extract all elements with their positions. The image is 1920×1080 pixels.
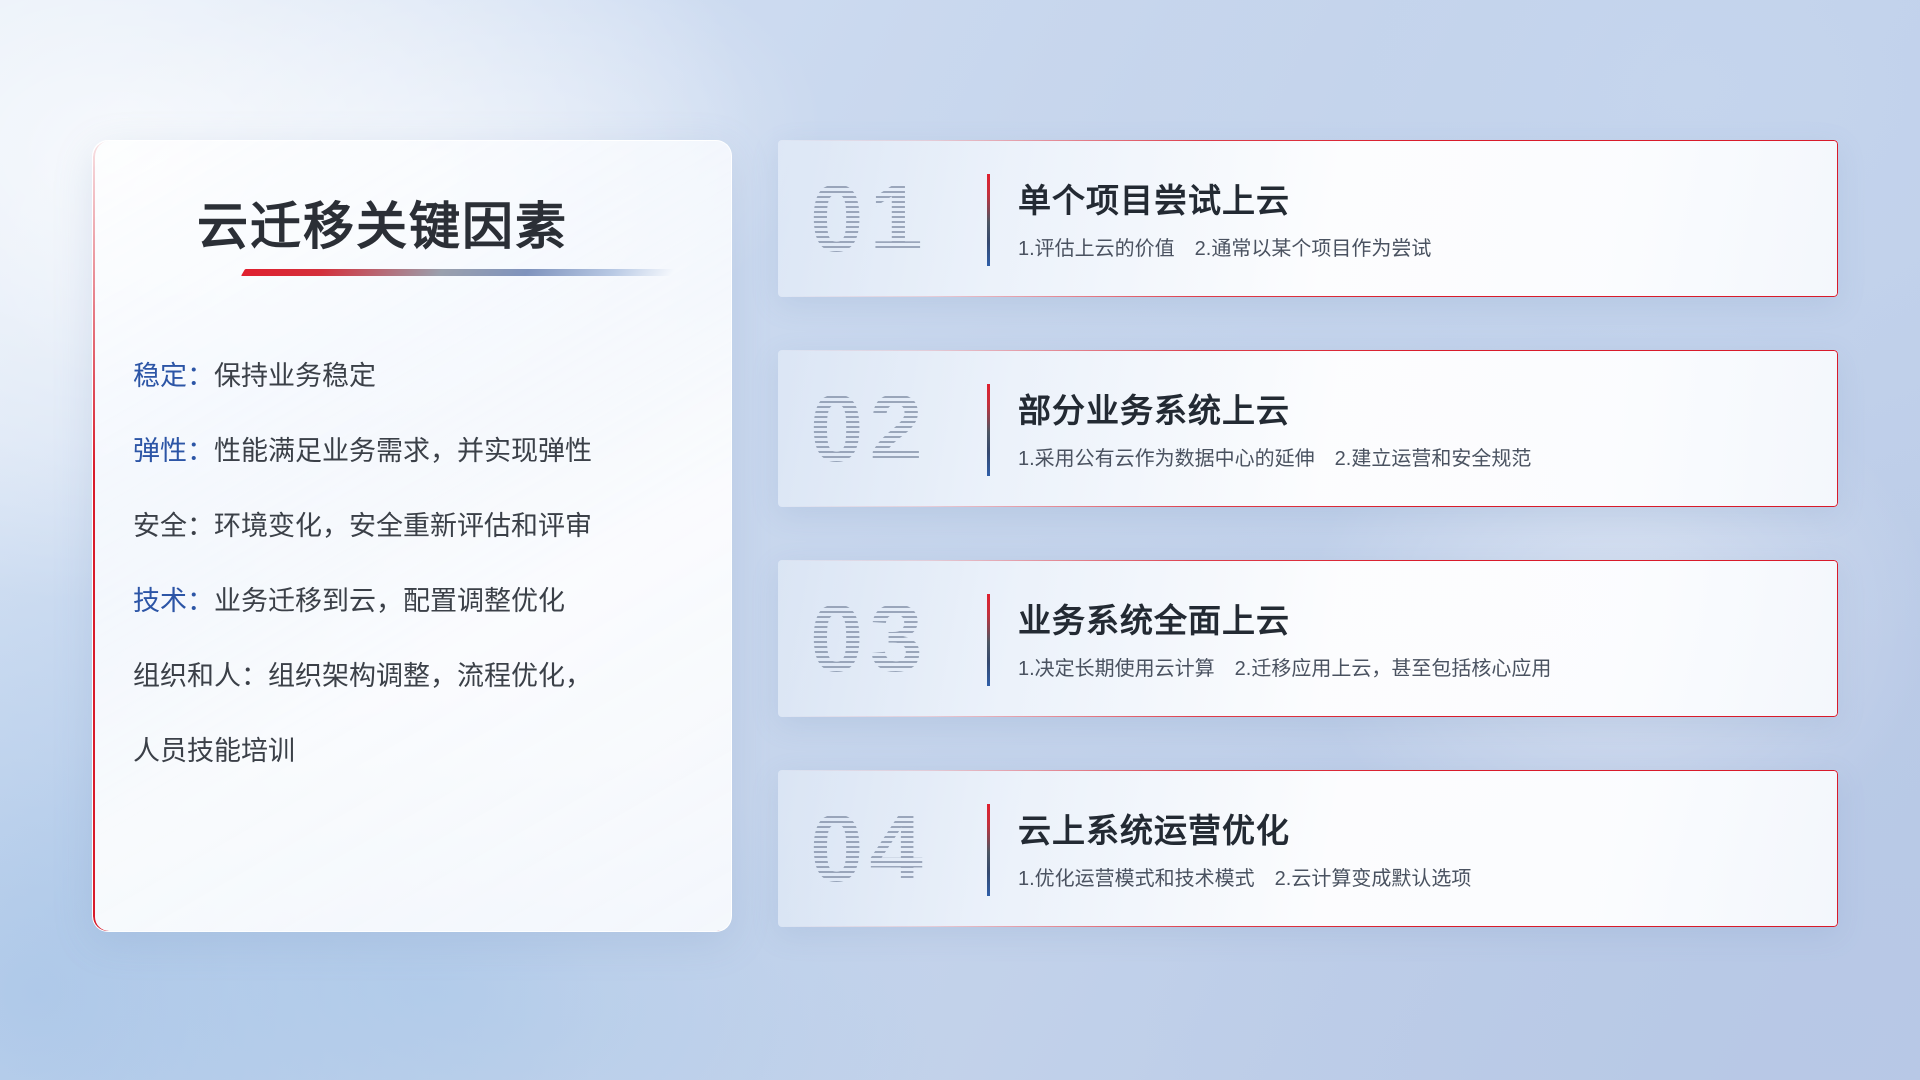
key-factor-text: 环境变化，安全重新评估和评审 xyxy=(214,511,592,541)
page-title: 云迁移关键因素 xyxy=(197,185,568,259)
key-factor-item: 弹性：性能满足业务需求，并实现弹性 xyxy=(133,438,701,465)
stage-subtitle: 1.优化运营模式和技术模式 2.云计算变成默认选项 xyxy=(1018,862,1471,891)
stage-subtitle: 1.评估上云的价值 2.通常以某个项目作为尝试 xyxy=(1018,232,1431,261)
card-red-border xyxy=(778,140,1838,297)
key-factors-list: 稳定：保持业务稳定弹性：性能满足业务需求，并实现弹性安全：环境变化，安全重新评估… xyxy=(133,363,701,765)
key-factor-label: 组织和人： xyxy=(133,661,268,691)
key-factor-text: 组织架构调整，流程优化， xyxy=(268,661,592,691)
card-red-border xyxy=(778,770,1838,927)
key-factor-label: 技术： xyxy=(133,586,214,616)
title-underline-gradient xyxy=(241,269,675,276)
stage-card[interactable]: 02部分业务系统上云1.采用公有云作为数据中心的延伸 2.建立运营和安全规范 xyxy=(778,350,1838,507)
stage-title: 部分业务系统上云 xyxy=(1018,384,1290,432)
stage-subtitle: 1.决定长期使用云计算 2.迁移应用上云，甚至包括核心应用 xyxy=(1018,652,1551,681)
card-red-border xyxy=(778,560,1838,717)
key-factor-label: 弹性： xyxy=(133,436,214,466)
key-factor-label: 安全： xyxy=(133,511,214,541)
stage-title: 业务系统全面上云 xyxy=(1018,594,1290,642)
key-factor-item: 组织和人：组织架构调整，流程优化， xyxy=(133,663,701,690)
key-factor-text: 性能满足业务需求，并实现弹性 xyxy=(214,436,592,466)
key-factor-text: 人员技能培训 xyxy=(133,736,295,766)
stage-title: 云上系统运营优化 xyxy=(1018,804,1290,852)
key-factor-text: 业务迁移到云，配置调整优化 xyxy=(214,586,565,616)
slide-canvas: 云迁移关键因素 稳定：保持业务稳定弹性：性能满足业务需求，并实现弹性安全：环境变… xyxy=(0,0,1920,1080)
key-factor-item: 技术：业务迁移到云，配置调整优化 xyxy=(133,588,701,615)
stage-card[interactable]: 01单个项目尝试上云1.评估上云的价值 2.通常以某个项目作为尝试 xyxy=(778,140,1838,297)
stage-number: 03 xyxy=(810,591,929,687)
card-gradient-divider xyxy=(987,804,990,896)
stage-subtitle: 1.采用公有云作为数据中心的延伸 2.建立运营和安全规范 xyxy=(1018,442,1531,471)
card-gradient-divider xyxy=(987,174,990,266)
stage-number: 02 xyxy=(810,381,929,477)
card-gradient-divider xyxy=(987,594,990,686)
key-factor-item: 人员技能培训 xyxy=(133,738,701,765)
key-factor-label: 稳定： xyxy=(133,361,214,391)
stage-card[interactable]: 04云上系统运营优化1.优化运营模式和技术模式 2.云计算变成默认选项 xyxy=(778,770,1838,927)
stage-number: 01 xyxy=(810,171,929,267)
key-factor-item: 安全：环境变化，安全重新评估和评审 xyxy=(133,513,701,540)
card-gradient-divider xyxy=(987,384,990,476)
card-red-border xyxy=(778,350,1838,507)
maturity-stage-card-list: 01单个项目尝试上云1.评估上云的价值 2.通常以某个项目作为尝试02部分业务系… xyxy=(778,140,1838,927)
stage-card[interactable]: 03业务系统全面上云1.决定长期使用云计算 2.迁移应用上云，甚至包括核心应用 xyxy=(778,560,1838,717)
key-factor-text: 保持业务稳定 xyxy=(214,361,376,391)
key-factors-panel: 云迁移关键因素 稳定：保持业务稳定弹性：性能满足业务需求，并实现弹性安全：环境变… xyxy=(92,140,732,932)
stage-title: 单个项目尝试上云 xyxy=(1018,174,1290,222)
stage-number: 04 xyxy=(810,801,929,897)
key-factor-item: 稳定：保持业务稳定 xyxy=(133,363,701,390)
